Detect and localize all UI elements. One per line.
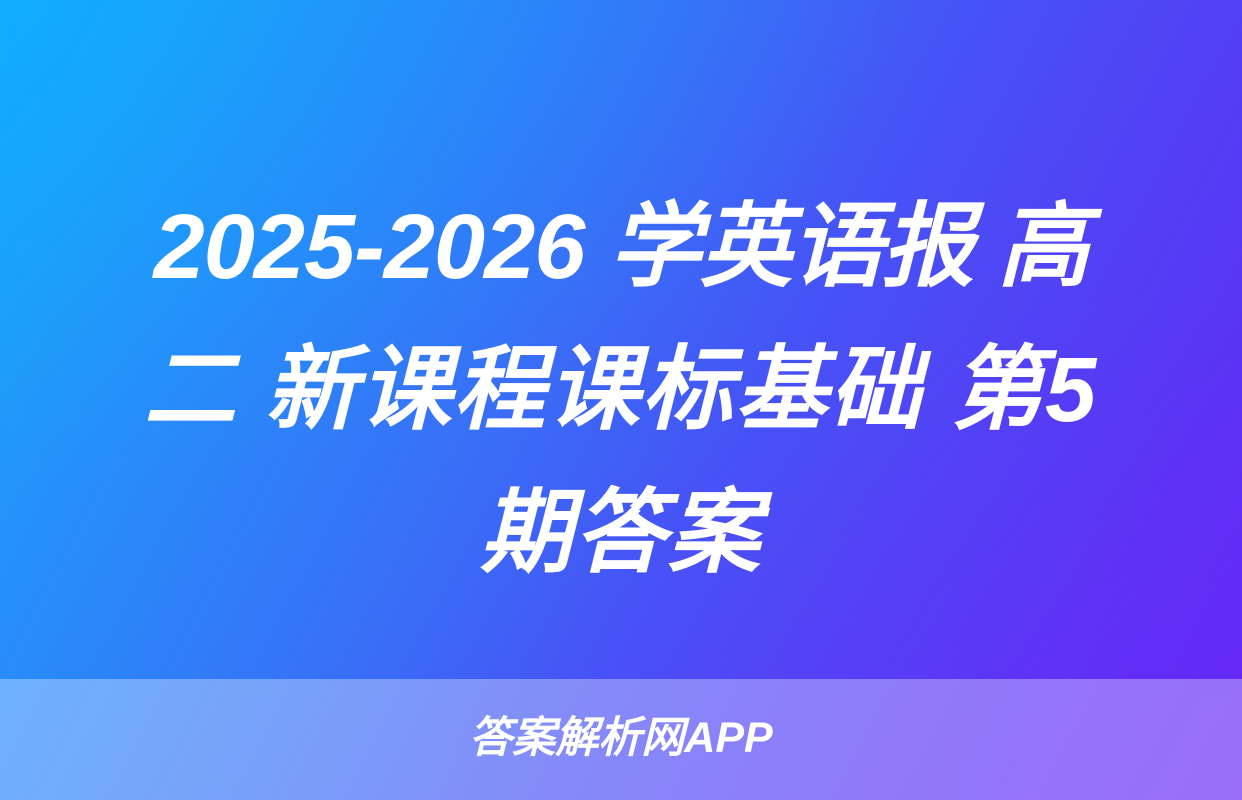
watermark-band: 答案解析网APP xyxy=(0,679,1242,800)
title-line-2: 二 新课程课标基础 第5 xyxy=(58,319,1184,462)
title-line-2-text: 二 新课程课标基础 第5 xyxy=(144,339,1098,441)
page-title: 2025-2026 学英语报 高 二 新课程课标基础 第5 期答案 xyxy=(0,176,1242,605)
title-line-3-text: 期答案 xyxy=(480,482,762,584)
title-line-1: 2025-2026 学英语报 高 xyxy=(58,176,1184,319)
cover-card: 2025-2026 学英语报 高 二 新课程课标基础 第5 期答案 答案解析网A… xyxy=(0,0,1242,800)
watermark-label: 答案解析网APP xyxy=(469,717,772,760)
title-line-3: 期答案 xyxy=(58,462,1184,605)
title-line-1-text: 2025-2026 学英语报 高 xyxy=(153,196,1088,298)
